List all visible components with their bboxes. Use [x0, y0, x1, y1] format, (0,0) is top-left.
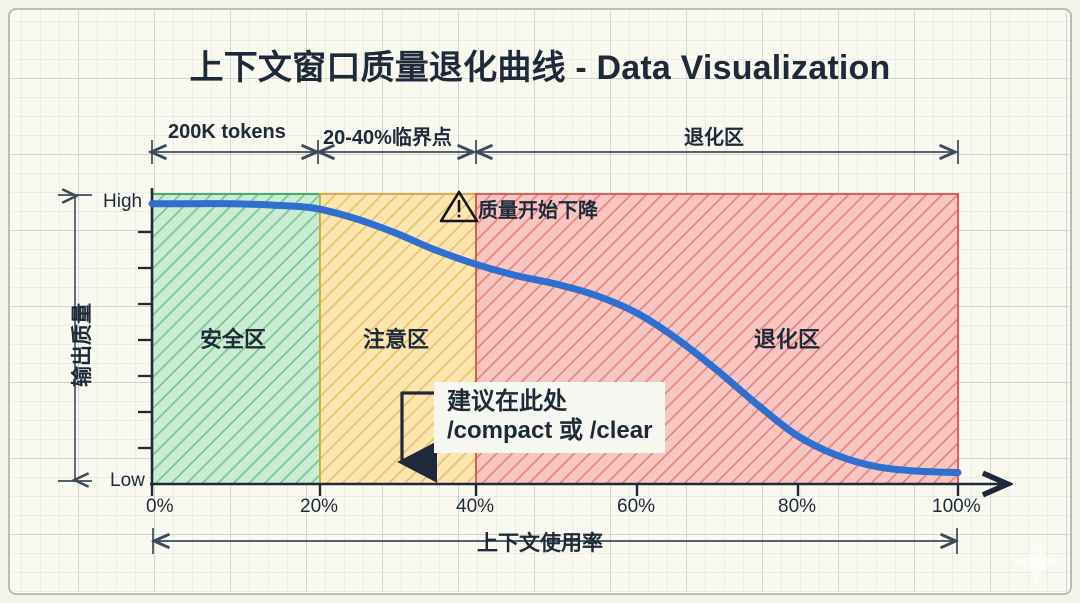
compact-advice-callout: 建议在此处 /compact 或 /clear	[434, 382, 665, 453]
x-tick-label-5: 100%	[932, 496, 981, 518]
zone-label-degrade: 退化区	[754, 322, 820, 354]
zone-label-caution: 注意区	[363, 322, 429, 354]
top-bracket-label-2: 20-40%临界点	[323, 121, 452, 150]
x-axis-title: 上下文使用率	[0, 527, 1080, 557]
x-tick-label-3: 60%	[617, 496, 655, 518]
chart-canvas: 上下文窗口质量退化曲线 - Data Visualization 200K to…	[0, 0, 1080, 603]
page-title: 上下文窗口质量退化曲线 - Data Visualization	[0, 40, 1080, 89]
x-tick-label-4: 80%	[778, 496, 816, 518]
x-axis-ticks	[152, 484, 958, 496]
zone-label-safe: 安全区	[200, 322, 266, 354]
x-tick-label-1: 20%	[300, 496, 338, 518]
x-tick-label-2: 40%	[456, 496, 494, 518]
y-axis-title: 输出质量	[66, 260, 96, 430]
warning-label: 质量开始下降	[478, 194, 598, 223]
x-tick-label-0: 0%	[146, 496, 173, 518]
y-axis-label-low: Low	[110, 470, 145, 492]
callout-line-2: /compact 或 /clear	[447, 416, 652, 445]
callout-line-1: 建议在此处	[447, 387, 652, 416]
top-bracket-label-1: 200K tokens	[168, 121, 286, 144]
y-axis-label-high: High	[103, 191, 142, 213]
y-axis-ticks	[138, 232, 152, 448]
top-bracket-label-3: 退化区	[684, 121, 744, 150]
